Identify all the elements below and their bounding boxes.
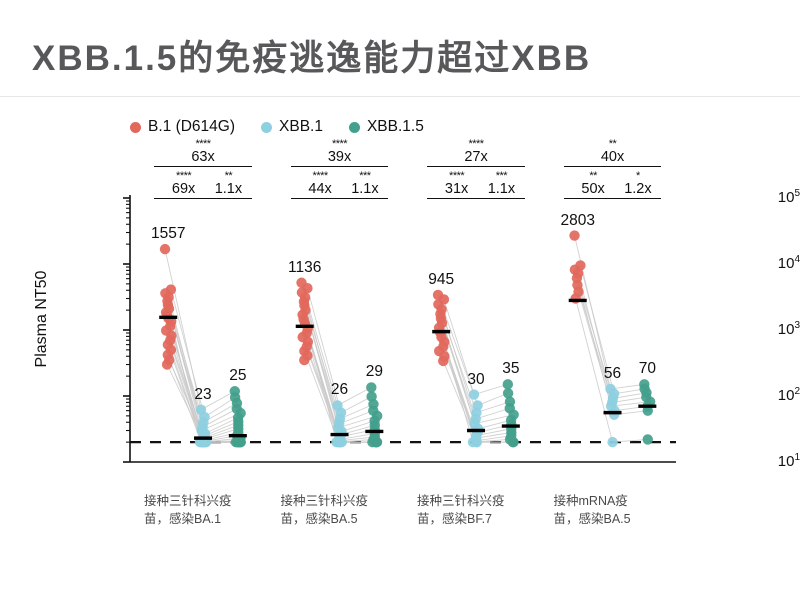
legend-item-xbb1[interactable]: XBB.1 bbox=[261, 118, 323, 136]
value-label-layer: 1557232511362629945303528035670 bbox=[0, 150, 800, 490]
page-title: XBB.1.5的免疫逃逸能力超过XBB bbox=[32, 30, 591, 81]
value-label-g2-s0: 945 bbox=[428, 271, 454, 289]
value-label-g2-s1: 30 bbox=[467, 371, 484, 389]
legend-item-xbb15[interactable]: XBB.1.5 bbox=[349, 118, 424, 136]
sig-g1-top-stars: **** bbox=[291, 139, 389, 150]
value-label-g3-s0: 2803 bbox=[560, 212, 594, 230]
x-axis-label-group-0: 接种三针科兴疫 苗，感染BA.1 bbox=[144, 492, 264, 528]
value-label-g1-s2: 29 bbox=[366, 363, 383, 381]
legend-label-xbb15: XBB.1.5 bbox=[367, 118, 424, 136]
value-label-g3-s1: 56 bbox=[604, 365, 621, 383]
title-divider bbox=[0, 96, 800, 97]
chart-legend: B.1 (D614G) XBB.1 XBB.1.5 bbox=[130, 118, 424, 136]
x-axis-label-group-2: 接种三针科兴疫 苗，感染BF.7 bbox=[417, 492, 537, 528]
value-label-g0-s1: 23 bbox=[194, 386, 211, 404]
sig-g2-top-stars: **** bbox=[427, 139, 525, 150]
legend-color-swatch-xbb1 bbox=[261, 122, 272, 133]
legend-label-b1: B.1 (D614G) bbox=[148, 118, 235, 136]
sig-g0-top-stars: **** bbox=[154, 139, 252, 150]
value-label-g1-s0: 1136 bbox=[288, 259, 321, 277]
value-label-g0-s0: 1557 bbox=[151, 225, 185, 243]
legend-color-swatch-b1 bbox=[130, 122, 141, 133]
legend-item-b1[interactable]: B.1 (D614G) bbox=[130, 118, 235, 136]
value-label-g2-s2: 35 bbox=[502, 360, 519, 378]
title-band: XBB.1.5的免疫逃逸能力超过XBB bbox=[0, 0, 800, 96]
sig-g3-top-stars: ** bbox=[564, 139, 662, 150]
slide-root: XBB.1.5的免疫逃逸能力超过XBB B.1 (D614G) XBB.1 XB… bbox=[0, 0, 800, 594]
x-axis-label-group-1: 接种三针科兴疫 苗，感染BA.5 bbox=[281, 492, 401, 528]
footer-bar: 来源: Convergent evolution in SARS-CoV-2 S… bbox=[0, 536, 800, 594]
x-axis-label-group-3: 接种mRNA疫 苗，感染BA.5 bbox=[554, 492, 674, 528]
value-label-g0-s2: 25 bbox=[229, 367, 246, 385]
value-label-g1-s1: 26 bbox=[331, 381, 348, 399]
legend-color-swatch-xbb15 bbox=[349, 122, 360, 133]
legend-label-xbb1: XBB.1 bbox=[279, 118, 323, 136]
chart-plot-area: Plasma NT50 101102103104105 ****63x****6… bbox=[0, 150, 800, 490]
value-label-g3-s2: 70 bbox=[639, 360, 656, 378]
